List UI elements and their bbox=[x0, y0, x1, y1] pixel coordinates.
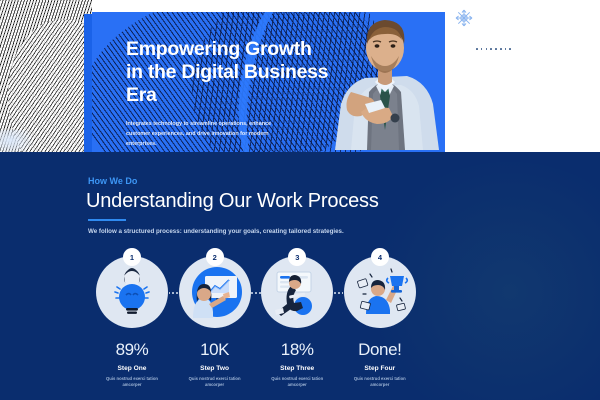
stat-value-3: 18% bbox=[261, 340, 333, 360]
stat-label-2: Step Two bbox=[179, 365, 251, 372]
step-illustration-1 bbox=[96, 256, 168, 328]
title-divider bbox=[88, 219, 126, 221]
step-badge-4: 4 bbox=[371, 248, 389, 266]
stat-value-4: Done! bbox=[344, 340, 416, 360]
section-eyebrow: How We Do bbox=[88, 176, 137, 186]
page-title: Understanding Our Work Process bbox=[86, 190, 379, 213]
stat-label-4: Step Four bbox=[344, 365, 416, 372]
hero-band: Empowering Growth in the Digital Busines… bbox=[0, 0, 600, 152]
step-badge-3: 3 bbox=[288, 248, 306, 266]
step-illustration-2 bbox=[179, 256, 251, 328]
step-connector-1-2 bbox=[168, 256, 179, 294]
stat-label-1: Step One bbox=[96, 365, 168, 372]
step-illustration-3 bbox=[261, 256, 333, 328]
process-step-1[interactable]: 1 bbox=[96, 256, 168, 328]
stat-item-2: 10K Step Two Quis nostrud exerci tation … bbox=[179, 340, 251, 389]
stat-item-1: 89% Step One Quis nostrud exerci tation … bbox=[96, 340, 168, 389]
businessman-photo bbox=[321, 0, 449, 152]
snowflake-icon bbox=[454, 8, 474, 28]
stat-desc-1: Quis nostrud exerci tation amcorper bbox=[96, 376, 168, 389]
stat-desc-2: Quis nostrud exerci tation amcorper bbox=[179, 376, 251, 389]
step-badge-1: 1 bbox=[123, 248, 141, 266]
process-stats: 89% Step One Quis nostrud exerci tation … bbox=[96, 340, 416, 389]
hero-subtitle: Integrates technology to streamline oper… bbox=[126, 119, 286, 149]
stat-desc-4: Quis nostrud exerci tation amcorper bbox=[344, 376, 416, 389]
process-step-2[interactable]: 2 bbox=[179, 256, 251, 328]
process-steps: 1 bbox=[96, 256, 416, 328]
step-connector-3-4 bbox=[333, 256, 344, 294]
process-section: How We Do Understanding Our Work Process… bbox=[0, 152, 600, 400]
step-connector-2-3 bbox=[251, 256, 262, 294]
process-step-3[interactable]: 3 bbox=[261, 256, 333, 328]
section-subtitle: We follow a structured process: understa… bbox=[88, 228, 344, 235]
stat-label-3: Step Three bbox=[261, 365, 333, 372]
stat-item-3: 18% Step Three Quis nostrud exerci tatio… bbox=[261, 340, 333, 389]
dots-row-decoration bbox=[476, 48, 511, 50]
step-badge-2: 2 bbox=[206, 248, 224, 266]
stat-value-1: 89% bbox=[96, 340, 168, 360]
corner-blob-decoration bbox=[0, 130, 34, 152]
stat-item-4: Done! Step Four Quis nostrud exerci tati… bbox=[344, 340, 416, 389]
stat-desc-3: Quis nostrud exerci tation amcorper bbox=[261, 376, 333, 389]
process-step-4[interactable]: 4 bbox=[344, 256, 416, 328]
step-illustration-4 bbox=[344, 256, 416, 328]
stat-value-2: 10K bbox=[179, 340, 251, 360]
